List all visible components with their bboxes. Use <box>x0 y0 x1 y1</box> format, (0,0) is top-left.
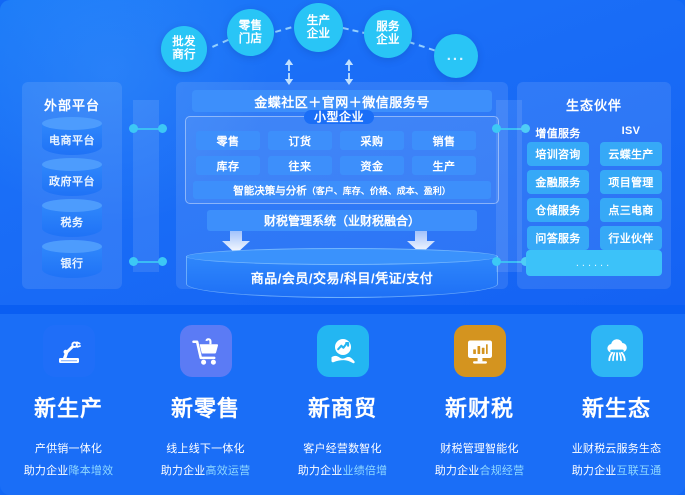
feature-card-desc2-accent: 降本增效 <box>69 465 114 477</box>
bubble-manufacturing[interactable]: 生产企业 <box>294 3 343 52</box>
ecosystem-col2-item-0-label: 云蝶生产 <box>608 146 653 162</box>
feature-card-desc2-accent: 互联互通 <box>617 465 662 477</box>
feature-card-desc2-accent: 业绩倍增 <box>343 465 388 477</box>
feature-card-title: 新生产 <box>34 391 103 423</box>
sme-label: 小型企业 <box>304 110 374 124</box>
sme-tile-purchase-label: 采购 <box>361 133 384 149</box>
external-platform-item-1[interactable]: 政府平台 <box>42 158 102 200</box>
bubble-manufacturing-label: 生产企业 <box>307 15 331 41</box>
ecosystem-col2-item-1-label: 项目管理 <box>608 174 653 190</box>
bubble-retail-store-label: 零售门店 <box>239 20 263 46</box>
smart-analysis-row[interactable]: 智能决策与分析 （客户、库存、价格、成本、盈利） <box>193 181 491 199</box>
bubble-retail-store[interactable]: 零售门店 <box>227 9 274 56</box>
ecosystem-col2-head: ISV <box>600 125 662 137</box>
feature-card-desc1: 线上线下一体化 <box>166 440 244 456</box>
sme-tile-sales[interactable]: 销售 <box>412 131 476 150</box>
hand-chart-icon-wrap <box>317 325 369 377</box>
sme-tile-sales-label: 销售 <box>433 133 456 149</box>
sme-tile-ordering[interactable]: 订货 <box>268 131 332 150</box>
ecosystem-col1-item-1[interactable]: 金融服务 <box>527 170 589 194</box>
ecosystem-col1-item-3-label: 问答服务 <box>535 230 580 246</box>
bubble-wholesale[interactable]: 批发商行 <box>161 26 207 72</box>
feature-card-desc2-accent: 高效运营 <box>206 465 251 477</box>
feature-card-title: 新商贸 <box>308 391 377 423</box>
cloud-network-icon-wrap <box>591 325 643 377</box>
feature-card-new-commerce[interactable]: 新商贸 客户经营数智化 助力企业业绩倍增 <box>274 314 411 495</box>
feature-card-desc2: 助力企业高效运营 <box>161 462 251 478</box>
ecosystem-col2-item-0[interactable]: 云蝶生产 <box>600 142 662 166</box>
feature-card-title: 新财税 <box>445 391 514 423</box>
bubble-wholesale-label: 批发商行 <box>172 36 196 62</box>
architecture-diagram: 批发商行 零售门店 生产企业 服务企业 ... 外部 <box>0 0 685 495</box>
bubble-service[interactable]: 服务企业 <box>364 10 412 58</box>
ecosystem-col2-item-1[interactable]: 项目管理 <box>600 170 662 194</box>
feature-card-desc1: 客户经营数智化 <box>303 440 381 456</box>
ecosystem-col1-item-0[interactable]: 培训咨询 <box>527 142 589 166</box>
shopping-cart-icon <box>190 335 222 367</box>
monitor-bar-chart-icon <box>464 335 496 367</box>
cylinder-top <box>42 158 102 171</box>
cylinder-top <box>42 240 102 253</box>
feature-card-desc2: 助力企业业绩倍增 <box>298 462 388 478</box>
feature-card-desc2-plain: 助力企业 <box>161 465 206 477</box>
shopping-cart-icon-wrap <box>180 325 232 377</box>
smart-analysis-main: 智能决策与分析 <box>233 183 307 198</box>
ecosystem-col1-item-2[interactable]: 仓储服务 <box>527 198 589 222</box>
feature-card-desc2-plain: 助力企业 <box>24 465 69 477</box>
sme-tile-ordering-label: 订货 <box>289 133 312 149</box>
cylinder-top <box>42 117 102 130</box>
sme-tile-purchase[interactable]: 采购 <box>340 131 404 150</box>
data-cylinder: 商品/会员/交易/科目/凭证/支付 <box>186 248 498 298</box>
feature-card-desc2: 助力企业降本增效 <box>24 462 114 478</box>
left-connector-line-b <box>136 261 161 263</box>
hand-chart-icon <box>327 335 359 367</box>
feature-card-title: 新零售 <box>171 391 240 423</box>
data-cylinder-label: 商品/会员/交易/科目/凭证/支付 <box>186 268 498 287</box>
external-platform-title: 外部平台 <box>22 95 122 114</box>
finance-tax-system-row[interactable]: 财税管理系统（业财税融合） <box>207 210 477 231</box>
sme-tile-funds[interactable]: 资金 <box>340 156 404 175</box>
ecosystem-col2-item-2[interactable]: 点三电商 <box>600 198 662 222</box>
architecture-top-section: 批发商行 零售门店 生产企业 服务企业 ... 外部 <box>0 0 685 305</box>
external-platform-item-0[interactable]: 电商平台 <box>42 117 102 159</box>
ecosystem-col2-item-3-label: 行业伙伴 <box>608 230 653 246</box>
feature-card-desc2-plain: 助力企业 <box>572 465 617 477</box>
robot-arm-icon-wrap <box>43 325 95 377</box>
external-platform-item-3[interactable]: 银行 <box>42 240 102 282</box>
sme-tile-retail[interactable]: 零售 <box>196 131 260 150</box>
ecosystem-col1-head: 增值服务 <box>527 125 589 141</box>
feature-card-new-ecosystem[interactable]: 新生态 业财税云服务生态 助力企业互联互通 <box>548 314 685 495</box>
feature-card-desc2-plain: 助力企业 <box>435 465 480 477</box>
sme-tile-funds-label: 资金 <box>361 158 384 174</box>
bubble-more[interactable]: ... <box>434 34 478 78</box>
left-connector-line-a <box>136 128 161 130</box>
feature-card-desc2: 助力企业互联互通 <box>572 462 662 478</box>
feature-cards-section: 新生产 产供销一体化 助力企业降本增效 新零售 线 <box>0 314 685 495</box>
external-platform-item-1-label: 政府平台 <box>49 173 95 189</box>
ecosystem-col1-item-0-label: 培训咨询 <box>535 146 580 162</box>
sme-tile-inventory[interactable]: 库存 <box>196 156 260 175</box>
feature-card-desc1: 财税管理智能化 <box>440 440 518 456</box>
external-platform-item-2[interactable]: 税务 <box>42 199 102 241</box>
ecosystem-col2-item-3[interactable]: 行业伙伴 <box>600 226 662 250</box>
feature-card-desc2: 助力企业合规经营 <box>435 462 525 478</box>
feature-card-new-production[interactable]: 新生产 产供销一体化 助力企业降本增效 <box>0 314 137 495</box>
cloud-network-icon <box>601 335 633 367</box>
sme-tile-production-label: 生产 <box>433 158 456 174</box>
sme-tile-production[interactable]: 生产 <box>412 156 476 175</box>
external-platform-item-0-label: 电商平台 <box>49 132 95 148</box>
sme-tile-retail-label: 零售 <box>217 133 240 149</box>
sme-tile-payables-label: 往来 <box>289 158 312 174</box>
data-cylinder-top <box>186 248 498 265</box>
ecosystem-col1-item-1-label: 金融服务 <box>535 174 580 190</box>
feature-card-title: 新生态 <box>582 391 651 423</box>
feature-card-new-finance-tax[interactable]: 新财税 财税管理智能化 助力企业合规经营 <box>411 314 548 495</box>
external-platform-item-2-label: 税务 <box>61 214 84 230</box>
sme-tile-inventory-label: 库存 <box>217 158 240 174</box>
feature-card-desc1: 业财税云服务生态 <box>572 440 662 456</box>
ecosystem-col2-item-2-label: 点三电商 <box>608 202 653 218</box>
ecosystem-more-button[interactable]: ...... <box>526 250 662 276</box>
section-divider <box>0 305 685 314</box>
feature-card-desc1: 产供销一体化 <box>35 440 102 456</box>
ecosystem-col1-item-3[interactable]: 问答服务 <box>527 226 589 250</box>
robot-arm-icon <box>53 335 85 367</box>
cylinder-top <box>42 199 102 212</box>
feature-card-desc2-plain: 助力企业 <box>298 465 343 477</box>
sme-tile-payables[interactable]: 往来 <box>268 156 332 175</box>
ecosystem-partner-title: 生态伙伴 <box>517 95 671 114</box>
feature-card-new-retail[interactable]: 新零售 线上线下一体化 助力企业高效运营 <box>137 314 274 495</box>
smart-analysis-sub: （客户、库存、价格、成本、盈利） <box>307 184 451 197</box>
bubble-service-label: 服务企业 <box>376 21 400 47</box>
external-platform-item-3-label: 银行 <box>61 255 84 271</box>
monitor-bar-chart-icon-wrap <box>454 325 506 377</box>
ecosystem-col1-item-2-label: 仓储服务 <box>535 202 580 218</box>
feature-card-desc2-accent: 合规经营 <box>480 465 525 477</box>
center-header[interactable]: 金蝶社区＋官网＋微信服务号 <box>192 90 492 112</box>
bubble-more-label: ... <box>447 48 466 65</box>
